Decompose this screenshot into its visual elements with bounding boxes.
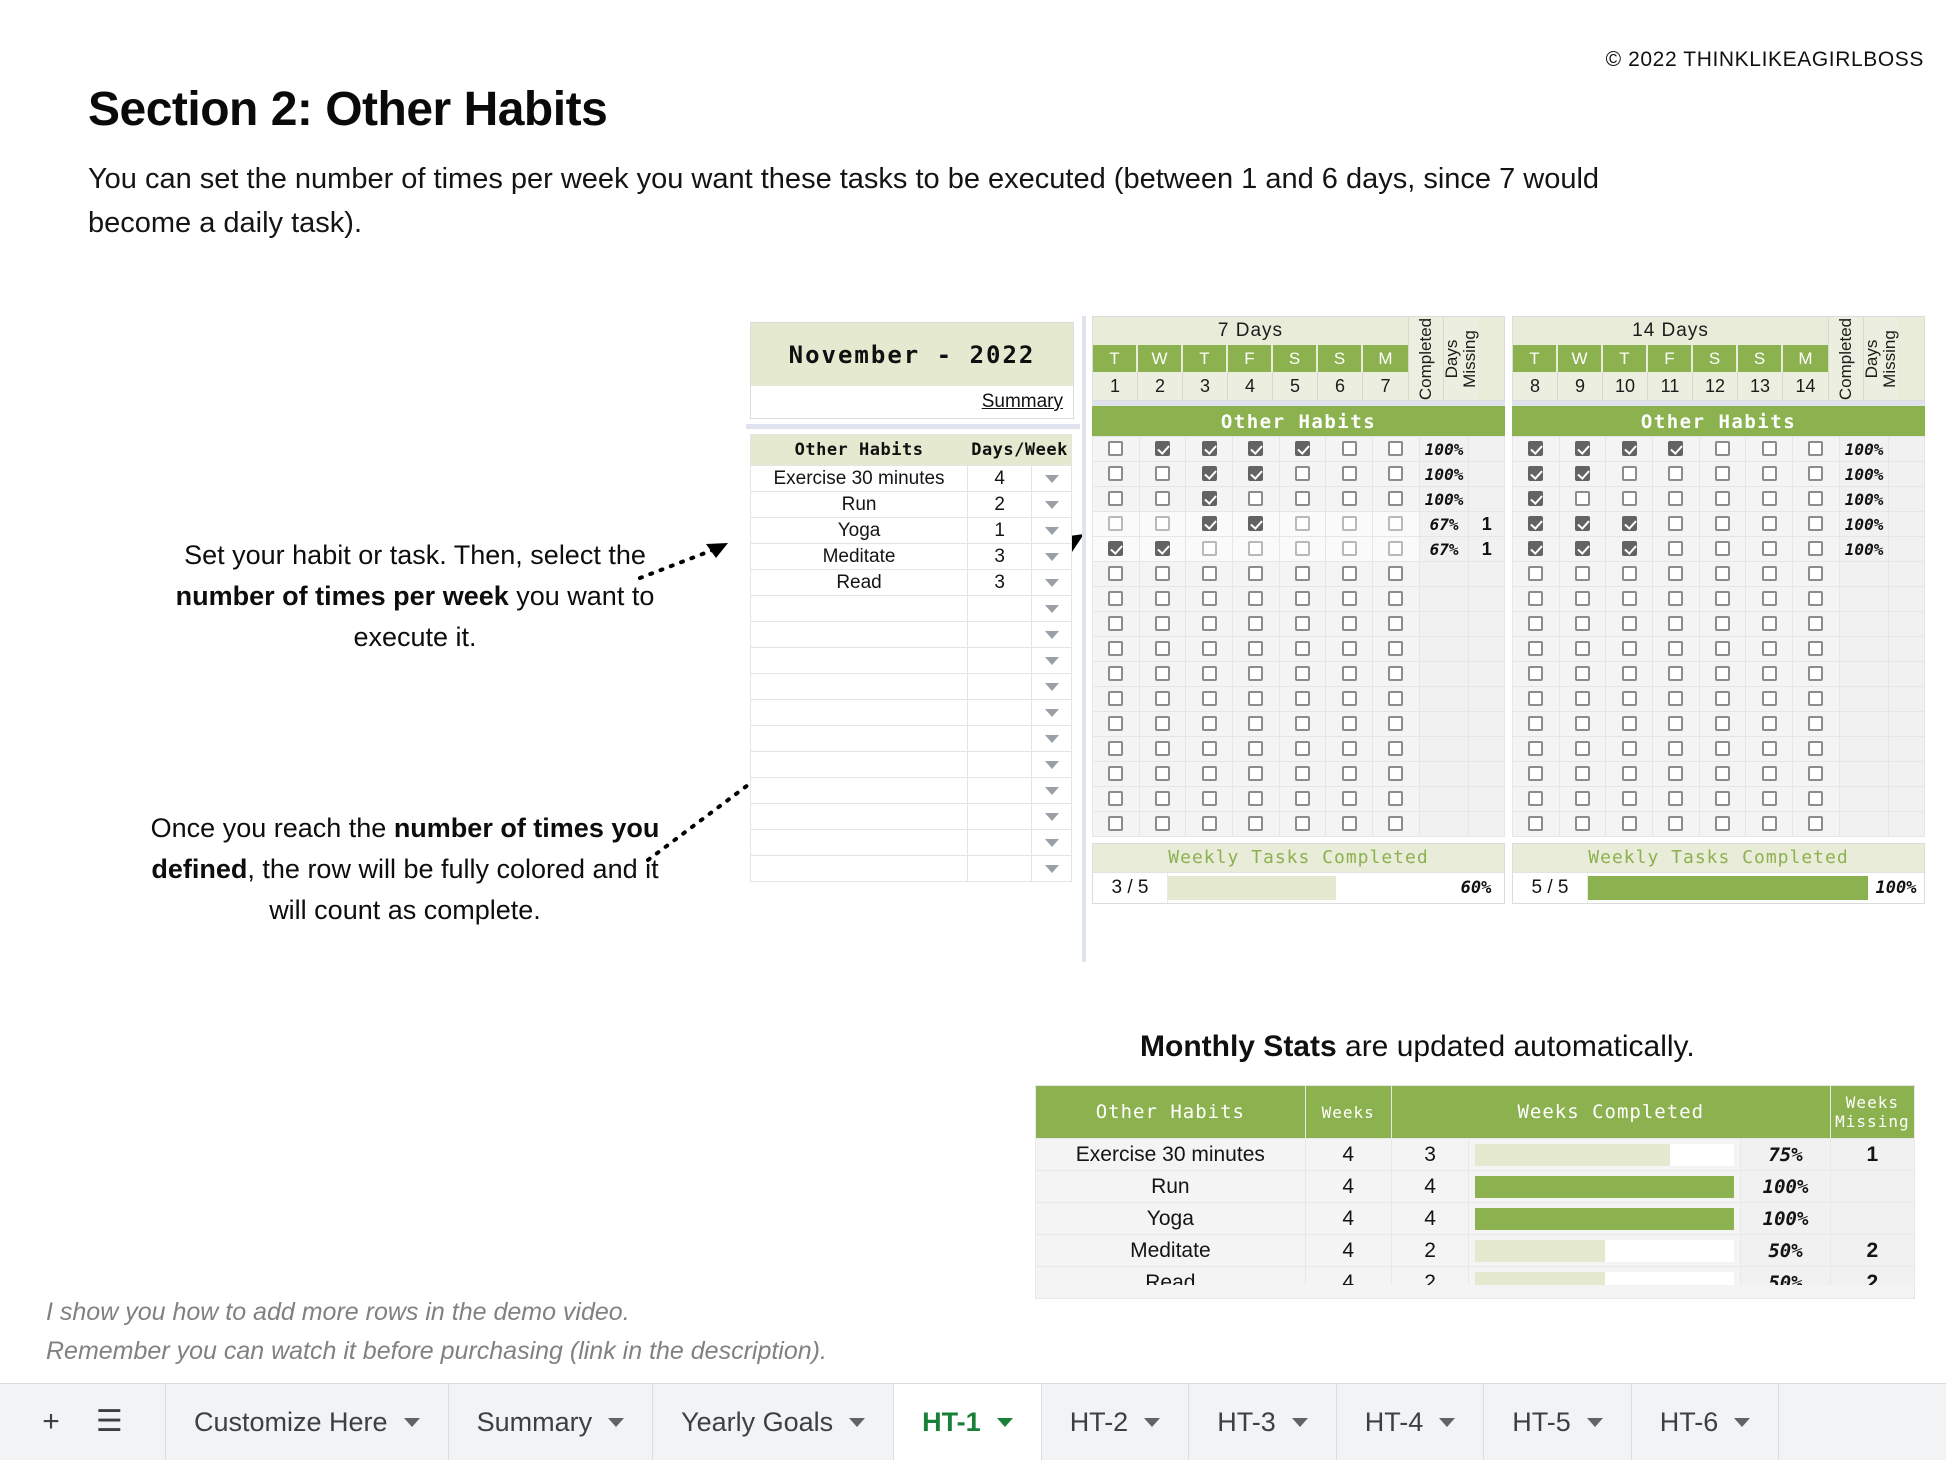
checkbox-cell[interactable] <box>1279 487 1326 512</box>
habit-name-cell[interactable] <box>751 804 968 830</box>
habit-checkbox[interactable] <box>1342 541 1357 556</box>
checkbox-cell[interactable] <box>1793 437 1840 462</box>
habit-checkbox[interactable] <box>1575 691 1590 706</box>
habit-checkbox[interactable] <box>1295 566 1310 581</box>
checkbox-cell[interactable] <box>1559 637 1606 662</box>
checkbox-cell[interactable] <box>1746 812 1793 837</box>
checkbox-cell[interactable] <box>1279 662 1326 687</box>
habit-checkbox[interactable] <box>1248 491 1263 506</box>
habit-checkbox[interactable] <box>1155 441 1170 456</box>
habit-days-cell[interactable] <box>968 622 1032 648</box>
checkbox-cell[interactable] <box>1373 787 1420 812</box>
habit-checkbox[interactable] <box>1202 516 1217 531</box>
habit-days-cell[interactable]: 1 <box>968 518 1032 544</box>
habit-checkbox[interactable] <box>1808 566 1823 581</box>
checkbox-cell[interactable] <box>1746 437 1793 462</box>
habit-checkbox[interactable] <box>1528 766 1543 781</box>
checkbox-cell[interactable] <box>1233 687 1280 712</box>
checkbox-cell[interactable] <box>1186 562 1233 587</box>
chevron-down-icon[interactable] <box>1734 1418 1750 1427</box>
habit-checkbox[interactable] <box>1575 791 1590 806</box>
checkbox-cell[interactable] <box>1139 687 1186 712</box>
habit-checkbox[interactable] <box>1668 616 1683 631</box>
habit-checkbox[interactable] <box>1388 741 1403 756</box>
checkbox-cell[interactable] <box>1513 587 1560 612</box>
habit-checkbox[interactable] <box>1762 516 1777 531</box>
checkbox-cell[interactable] <box>1233 762 1280 787</box>
habit-checkbox[interactable] <box>1622 666 1637 681</box>
habit-checkbox[interactable] <box>1668 491 1683 506</box>
habit-checkbox[interactable] <box>1155 641 1170 656</box>
checkbox-cell[interactable] <box>1373 687 1420 712</box>
checkbox-cell[interactable] <box>1699 612 1746 637</box>
habit-days-cell[interactable] <box>968 830 1032 856</box>
habit-name-cell[interactable] <box>751 700 968 726</box>
checkbox-cell[interactable] <box>1326 587 1373 612</box>
checkbox-cell[interactable] <box>1559 712 1606 737</box>
checkbox-cell[interactable] <box>1186 587 1233 612</box>
habit-checkbox[interactable] <box>1668 441 1683 456</box>
habit-checkbox[interactable] <box>1202 791 1217 806</box>
habit-checkbox[interactable] <box>1622 766 1637 781</box>
habit-checkbox[interactable] <box>1342 616 1357 631</box>
checkbox-cell[interactable] <box>1373 737 1420 762</box>
habit-checkbox[interactable] <box>1155 691 1170 706</box>
habit-checkbox[interactable] <box>1715 516 1730 531</box>
checkbox-cell[interactable] <box>1513 487 1560 512</box>
habit-checkbox[interactable] <box>1342 591 1357 606</box>
checkbox-cell[interactable] <box>1373 587 1420 612</box>
chevron-down-icon[interactable] <box>849 1418 865 1427</box>
habit-checkbox[interactable] <box>1668 816 1683 831</box>
habit-checkbox[interactable] <box>1808 591 1823 606</box>
habit-checkbox[interactable] <box>1715 566 1730 581</box>
checkbox-cell[interactable] <box>1746 562 1793 587</box>
habit-checkbox[interactable] <box>1248 816 1263 831</box>
habit-checkbox[interactable] <box>1575 516 1590 531</box>
checkbox-cell[interactable] <box>1653 662 1700 687</box>
checkbox-cell[interactable] <box>1653 487 1700 512</box>
checkbox-cell[interactable] <box>1699 462 1746 487</box>
habit-name-cell[interactable]: Run <box>751 492 968 518</box>
habit-days-dropdown[interactable] <box>1032 856 1072 882</box>
habit-checkbox[interactable] <box>1155 741 1170 756</box>
checkbox-cell[interactable] <box>1373 637 1420 662</box>
habit-checkbox[interactable] <box>1528 691 1543 706</box>
checkbox-cell[interactable] <box>1186 737 1233 762</box>
habit-checkbox[interactable] <box>1575 766 1590 781</box>
checkbox-cell[interactable] <box>1279 687 1326 712</box>
habit-checkbox[interactable] <box>1202 766 1217 781</box>
checkbox-cell[interactable] <box>1513 812 1560 837</box>
checkbox-cell[interactable] <box>1093 787 1140 812</box>
checkbox-cell[interactable] <box>1746 712 1793 737</box>
habit-checkbox[interactable] <box>1528 716 1543 731</box>
habit-checkbox[interactable] <box>1108 666 1123 681</box>
habit-checkbox[interactable] <box>1575 591 1590 606</box>
habit-checkbox[interactable] <box>1622 566 1637 581</box>
checkbox-cell[interactable] <box>1186 812 1233 837</box>
chevron-down-icon[interactable] <box>1292 1418 1308 1427</box>
habit-checkbox[interactable] <box>1715 816 1730 831</box>
habit-checkbox[interactable] <box>1668 741 1683 756</box>
habit-checkbox[interactable] <box>1808 666 1823 681</box>
checkbox-cell[interactable] <box>1279 637 1326 662</box>
summary-link[interactable]: Summary <box>982 391 1063 413</box>
tab-ht-3[interactable]: HT-3 <box>1189 1384 1337 1460</box>
checkbox-cell[interactable] <box>1513 562 1560 587</box>
habit-days-cell[interactable] <box>968 778 1032 804</box>
habit-name-cell[interactable] <box>751 778 968 804</box>
habit-checkbox[interactable] <box>1342 666 1357 681</box>
checkbox-cell[interactable] <box>1139 787 1186 812</box>
checkbox-cell[interactable] <box>1233 537 1280 562</box>
checkbox-cell[interactable] <box>1746 762 1793 787</box>
checkbox-cell[interactable] <box>1139 662 1186 687</box>
chevron-down-icon[interactable] <box>608 1418 624 1427</box>
checkbox-cell[interactable] <box>1699 512 1746 537</box>
habit-checkbox[interactable] <box>1155 491 1170 506</box>
habit-checkbox[interactable] <box>1248 741 1263 756</box>
habit-checkbox[interactable] <box>1762 591 1777 606</box>
habit-days-dropdown[interactable] <box>1032 518 1072 544</box>
habit-checkbox[interactable] <box>1715 741 1730 756</box>
checkbox-cell[interactable] <box>1513 662 1560 687</box>
habit-checkbox[interactable] <box>1108 691 1123 706</box>
checkbox-cell[interactable] <box>1793 762 1840 787</box>
checkbox-cell[interactable] <box>1186 537 1233 562</box>
habit-checkbox[interactable] <box>1295 766 1310 781</box>
habit-checkbox[interactable] <box>1715 791 1730 806</box>
checkbox-cell[interactable] <box>1653 812 1700 837</box>
checkbox-cell[interactable] <box>1653 462 1700 487</box>
habit-checkbox[interactable] <box>1668 566 1683 581</box>
checkbox-cell[interactable] <box>1559 562 1606 587</box>
checkbox-cell[interactable] <box>1699 437 1746 462</box>
habit-checkbox[interactable] <box>1622 591 1637 606</box>
habit-checkbox[interactable] <box>1575 541 1590 556</box>
checkbox-cell[interactable] <box>1653 562 1700 587</box>
checkbox-cell[interactable] <box>1513 512 1560 537</box>
checkbox-cell[interactable] <box>1139 812 1186 837</box>
habit-checkbox[interactable] <box>1388 791 1403 806</box>
checkbox-cell[interactable] <box>1279 762 1326 787</box>
checkbox-cell[interactable] <box>1606 487 1653 512</box>
checkbox-cell[interactable] <box>1139 537 1186 562</box>
checkbox-cell[interactable] <box>1699 812 1746 837</box>
habit-days-cell[interactable] <box>968 700 1032 726</box>
checkbox-cell[interactable] <box>1513 612 1560 637</box>
habit-checkbox[interactable] <box>1295 491 1310 506</box>
habit-checkbox[interactable] <box>1762 541 1777 556</box>
checkbox-cell[interactable] <box>1093 512 1140 537</box>
checkbox-cell[interactable] <box>1373 512 1420 537</box>
checkbox-cell[interactable] <box>1793 637 1840 662</box>
checkbox-cell[interactable] <box>1746 637 1793 662</box>
habit-checkbox[interactable] <box>1155 716 1170 731</box>
habit-days-dropdown[interactable] <box>1032 778 1072 804</box>
habit-checkbox[interactable] <box>1622 541 1637 556</box>
checkbox-cell[interactable] <box>1279 462 1326 487</box>
habit-checkbox[interactable] <box>1295 591 1310 606</box>
checkbox-cell[interactable] <box>1606 787 1653 812</box>
habit-checkbox[interactable] <box>1528 491 1543 506</box>
habit-checkbox[interactable] <box>1295 466 1310 481</box>
checkbox-cell[interactable] <box>1606 537 1653 562</box>
habit-checkbox[interactable] <box>1155 541 1170 556</box>
habit-checkbox[interactable] <box>1248 516 1263 531</box>
habit-checkbox[interactable] <box>1388 591 1403 606</box>
habit-checkbox[interactable] <box>1715 591 1730 606</box>
habit-name-cell[interactable]: Read <box>751 570 968 596</box>
checkbox-cell[interactable] <box>1793 612 1840 637</box>
checkbox-cell[interactable] <box>1793 487 1840 512</box>
habit-checkbox[interactable] <box>1715 541 1730 556</box>
checkbox-cell[interactable] <box>1186 762 1233 787</box>
habit-checkbox[interactable] <box>1528 616 1543 631</box>
habit-checkbox[interactable] <box>1248 441 1263 456</box>
habit-days-cell[interactable] <box>968 804 1032 830</box>
habit-checkbox[interactable] <box>1808 691 1823 706</box>
checkbox-cell[interactable] <box>1559 512 1606 537</box>
tab-ht-4[interactable]: HT-4 <box>1337 1384 1485 1460</box>
habit-checkbox[interactable] <box>1342 791 1357 806</box>
habit-checkbox[interactable] <box>1762 791 1777 806</box>
checkbox-cell[interactable] <box>1233 637 1280 662</box>
habit-days-dropdown[interactable] <box>1032 726 1072 752</box>
habit-checkbox[interactable] <box>1202 641 1217 656</box>
checkbox-cell[interactable] <box>1326 637 1373 662</box>
add-sheet-icon[interactable]: + <box>42 1407 60 1437</box>
checkbox-cell[interactable] <box>1326 512 1373 537</box>
habit-days-dropdown[interactable] <box>1032 466 1072 492</box>
checkbox-cell[interactable] <box>1793 462 1840 487</box>
checkbox-cell[interactable] <box>1653 437 1700 462</box>
checkbox-cell[interactable] <box>1093 462 1140 487</box>
habit-checkbox[interactable] <box>1808 441 1823 456</box>
habit-checkbox[interactable] <box>1668 516 1683 531</box>
checkbox-cell[interactable] <box>1093 662 1140 687</box>
habit-checkbox[interactable] <box>1342 441 1357 456</box>
habit-checkbox[interactable] <box>1295 791 1310 806</box>
habit-checkbox[interactable] <box>1762 491 1777 506</box>
checkbox-cell[interactable] <box>1186 687 1233 712</box>
habit-checkbox[interactable] <box>1762 566 1777 581</box>
habit-checkbox[interactable] <box>1342 641 1357 656</box>
checkbox-cell[interactable] <box>1233 437 1280 462</box>
habit-checkbox[interactable] <box>1528 791 1543 806</box>
habit-checkbox[interactable] <box>1668 591 1683 606</box>
checkbox-cell[interactable] <box>1279 537 1326 562</box>
habit-checkbox[interactable] <box>1808 741 1823 756</box>
habit-checkbox[interactable] <box>1388 666 1403 681</box>
habit-checkbox[interactable] <box>1528 641 1543 656</box>
checkbox-cell[interactable] <box>1373 437 1420 462</box>
habit-checkbox[interactable] <box>1388 516 1403 531</box>
checkbox-cell[interactable] <box>1279 812 1326 837</box>
chevron-down-icon[interactable] <box>404 1418 420 1427</box>
checkbox-cell[interactable] <box>1699 587 1746 612</box>
checkbox-cell[interactable] <box>1746 612 1793 637</box>
checkbox-cell[interactable] <box>1093 537 1140 562</box>
checkbox-cell[interactable] <box>1606 662 1653 687</box>
habit-checkbox[interactable] <box>1808 791 1823 806</box>
checkbox-cell[interactable] <box>1233 487 1280 512</box>
checkbox-cell[interactable] <box>1373 537 1420 562</box>
habit-checkbox[interactable] <box>1108 616 1123 631</box>
habit-checkbox[interactable] <box>1762 691 1777 706</box>
checkbox-cell[interactable] <box>1559 662 1606 687</box>
checkbox-cell[interactable] <box>1373 662 1420 687</box>
chevron-down-icon[interactable] <box>1439 1418 1455 1427</box>
habit-name-cell[interactable] <box>751 674 968 700</box>
habit-checkbox[interactable] <box>1155 466 1170 481</box>
habit-checkbox[interactable] <box>1528 466 1543 481</box>
checkbox-cell[interactable] <box>1793 712 1840 737</box>
checkbox-cell[interactable] <box>1093 687 1140 712</box>
habit-checkbox[interactable] <box>1668 641 1683 656</box>
habit-checkbox[interactable] <box>1715 766 1730 781</box>
checkbox-cell[interactable] <box>1699 787 1746 812</box>
habit-checkbox[interactable] <box>1622 791 1637 806</box>
checkbox-cell[interactable] <box>1093 637 1140 662</box>
checkbox-cell[interactable] <box>1606 687 1653 712</box>
checkbox-cell[interactable] <box>1653 712 1700 737</box>
habit-checkbox[interactable] <box>1762 766 1777 781</box>
habit-checkbox[interactable] <box>1202 691 1217 706</box>
checkbox-cell[interactable] <box>1279 787 1326 812</box>
tab-ht-2[interactable]: HT-2 <box>1042 1384 1190 1460</box>
habit-days-cell[interactable] <box>968 674 1032 700</box>
checkbox-cell[interactable] <box>1373 712 1420 737</box>
habit-name-cell[interactable] <box>751 596 968 622</box>
habit-checkbox[interactable] <box>1528 591 1543 606</box>
habit-checkbox[interactable] <box>1155 666 1170 681</box>
checkbox-cell[interactable] <box>1139 462 1186 487</box>
habit-checkbox[interactable] <box>1715 616 1730 631</box>
checkbox-cell[interactable] <box>1326 662 1373 687</box>
checkbox-cell[interactable] <box>1186 512 1233 537</box>
checkbox-cell[interactable] <box>1093 812 1140 837</box>
habit-checkbox[interactable] <box>1668 691 1683 706</box>
habit-checkbox[interactable] <box>1575 741 1590 756</box>
habit-checkbox[interactable] <box>1202 616 1217 631</box>
habit-checkbox[interactable] <box>1762 666 1777 681</box>
checkbox-cell[interactable] <box>1606 812 1653 837</box>
habit-checkbox[interactable] <box>1108 816 1123 831</box>
habit-days-cell[interactable]: 3 <box>968 544 1032 570</box>
checkbox-cell[interactable] <box>1139 737 1186 762</box>
checkbox-cell[interactable] <box>1279 437 1326 462</box>
habit-checkbox[interactable] <box>1622 816 1637 831</box>
habit-checkbox[interactable] <box>1622 516 1637 531</box>
checkbox-cell[interactable] <box>1559 487 1606 512</box>
habit-checkbox[interactable] <box>1575 491 1590 506</box>
checkbox-cell[interactable] <box>1139 487 1186 512</box>
checkbox-cell[interactable] <box>1606 762 1653 787</box>
habit-checkbox[interactable] <box>1762 816 1777 831</box>
habit-checkbox[interactable] <box>1202 666 1217 681</box>
checkbox-cell[interactable] <box>1746 487 1793 512</box>
habit-checkbox[interactable] <box>1248 791 1263 806</box>
checkbox-cell[interactable] <box>1093 587 1140 612</box>
habit-days-dropdown[interactable] <box>1032 752 1072 778</box>
checkbox-cell[interactable] <box>1653 512 1700 537</box>
checkbox-cell[interactable] <box>1186 437 1233 462</box>
habit-days-dropdown[interactable] <box>1032 674 1072 700</box>
checkbox-cell[interactable] <box>1279 612 1326 637</box>
habit-checkbox[interactable] <box>1248 591 1263 606</box>
habit-name-cell[interactable]: Meditate <box>751 544 968 570</box>
habit-checkbox[interactable] <box>1575 566 1590 581</box>
habit-checkbox[interactable] <box>1388 816 1403 831</box>
habit-checkbox[interactable] <box>1575 641 1590 656</box>
habit-checkbox[interactable] <box>1808 466 1823 481</box>
checkbox-cell[interactable] <box>1793 562 1840 587</box>
checkbox-cell[interactable] <box>1513 737 1560 762</box>
habit-checkbox[interactable] <box>1715 441 1730 456</box>
checkbox-cell[interactable] <box>1326 612 1373 637</box>
checkbox-cell[interactable] <box>1233 587 1280 612</box>
habit-checkbox[interactable] <box>1108 566 1123 581</box>
habit-checkbox[interactable] <box>1622 616 1637 631</box>
habit-checkbox[interactable] <box>1575 441 1590 456</box>
habit-days-cell[interactable]: 3 <box>968 570 1032 596</box>
habit-checkbox[interactable] <box>1248 766 1263 781</box>
habit-checkbox[interactable] <box>1155 791 1170 806</box>
checkbox-cell[interactable] <box>1326 687 1373 712</box>
checkbox-cell[interactable] <box>1559 587 1606 612</box>
habit-checkbox[interactable] <box>1388 566 1403 581</box>
checkbox-cell[interactable] <box>1233 712 1280 737</box>
habit-checkbox[interactable] <box>1108 541 1123 556</box>
habit-checkbox[interactable] <box>1622 491 1637 506</box>
habit-days-cell[interactable] <box>968 726 1032 752</box>
habit-checkbox[interactable] <box>1622 691 1637 706</box>
habit-checkbox[interactable] <box>1808 616 1823 631</box>
checkbox-cell[interactable] <box>1653 587 1700 612</box>
habit-checkbox[interactable] <box>1202 741 1217 756</box>
checkbox-cell[interactable] <box>1139 637 1186 662</box>
habit-name-cell[interactable] <box>751 726 968 752</box>
habit-checkbox[interactable] <box>1295 716 1310 731</box>
habit-checkbox[interactable] <box>1762 441 1777 456</box>
checkbox-cell[interactable] <box>1279 712 1326 737</box>
habit-checkbox[interactable] <box>1668 791 1683 806</box>
habit-checkbox[interactable] <box>1622 466 1637 481</box>
habit-checkbox[interactable] <box>1342 741 1357 756</box>
checkbox-cell[interactable] <box>1559 462 1606 487</box>
habit-checkbox[interactable] <box>1108 466 1123 481</box>
habit-checkbox[interactable] <box>1808 766 1823 781</box>
habit-checkbox[interactable] <box>1388 616 1403 631</box>
checkbox-cell[interactable] <box>1793 812 1840 837</box>
checkbox-cell[interactable] <box>1606 562 1653 587</box>
habit-checkbox[interactable] <box>1108 491 1123 506</box>
habit-checkbox[interactable] <box>1248 716 1263 731</box>
checkbox-cell[interactable] <box>1279 737 1326 762</box>
habit-checkbox[interactable] <box>1388 441 1403 456</box>
checkbox-cell[interactable] <box>1093 762 1140 787</box>
habit-days-cell[interactable] <box>968 752 1032 778</box>
tab-ht-1[interactable]: HT-1 <box>894 1384 1042 1460</box>
habit-checkbox[interactable] <box>1668 541 1683 556</box>
checkbox-cell[interactable] <box>1326 462 1373 487</box>
checkbox-cell[interactable] <box>1093 562 1140 587</box>
checkbox-cell[interactable] <box>1373 462 1420 487</box>
checkbox-cell[interactable] <box>1093 437 1140 462</box>
checkbox-cell[interactable] <box>1653 787 1700 812</box>
